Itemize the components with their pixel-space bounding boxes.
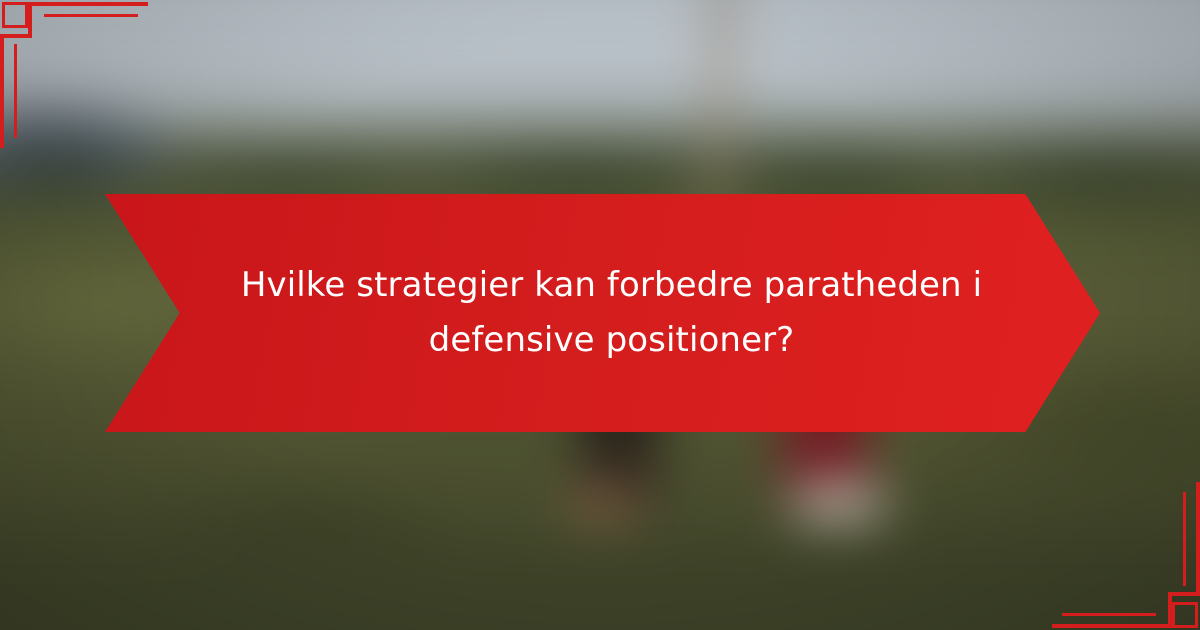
corner-bracket-bottom-right-icon	[1040, 470, 1200, 630]
headline-text: Hvilke strategier kan forbedre parathede…	[232, 258, 992, 368]
bracket-inner-horizontal	[44, 14, 138, 17]
bracket-step-vertical	[1168, 592, 1172, 628]
social-card: Hvilke strategier kan forbedre parathede…	[0, 0, 1200, 630]
bracket-outer-horizontal	[28, 2, 148, 6]
bracket-square-right	[1195, 602, 1198, 628]
bracket-inner-horizontal	[1062, 613, 1156, 616]
bracket-step-vertical	[28, 2, 32, 38]
bracket-outer-vertical	[1196, 482, 1200, 596]
headline-banner: Hvilke strategier kan forbedre parathede…	[105, 194, 1100, 432]
bracket-square-left	[1172, 602, 1175, 628]
bracket-outer-vertical	[0, 34, 4, 148]
bracket-step-horizontal	[0, 34, 32, 38]
corner-bracket-top-left-icon	[0, 0, 160, 160]
bracket-square-left	[2, 2, 5, 28]
bracket-outer-horizontal	[1052, 624, 1172, 628]
bracket-inner-vertical	[14, 44, 17, 138]
bracket-inner-vertical	[1183, 492, 1186, 586]
